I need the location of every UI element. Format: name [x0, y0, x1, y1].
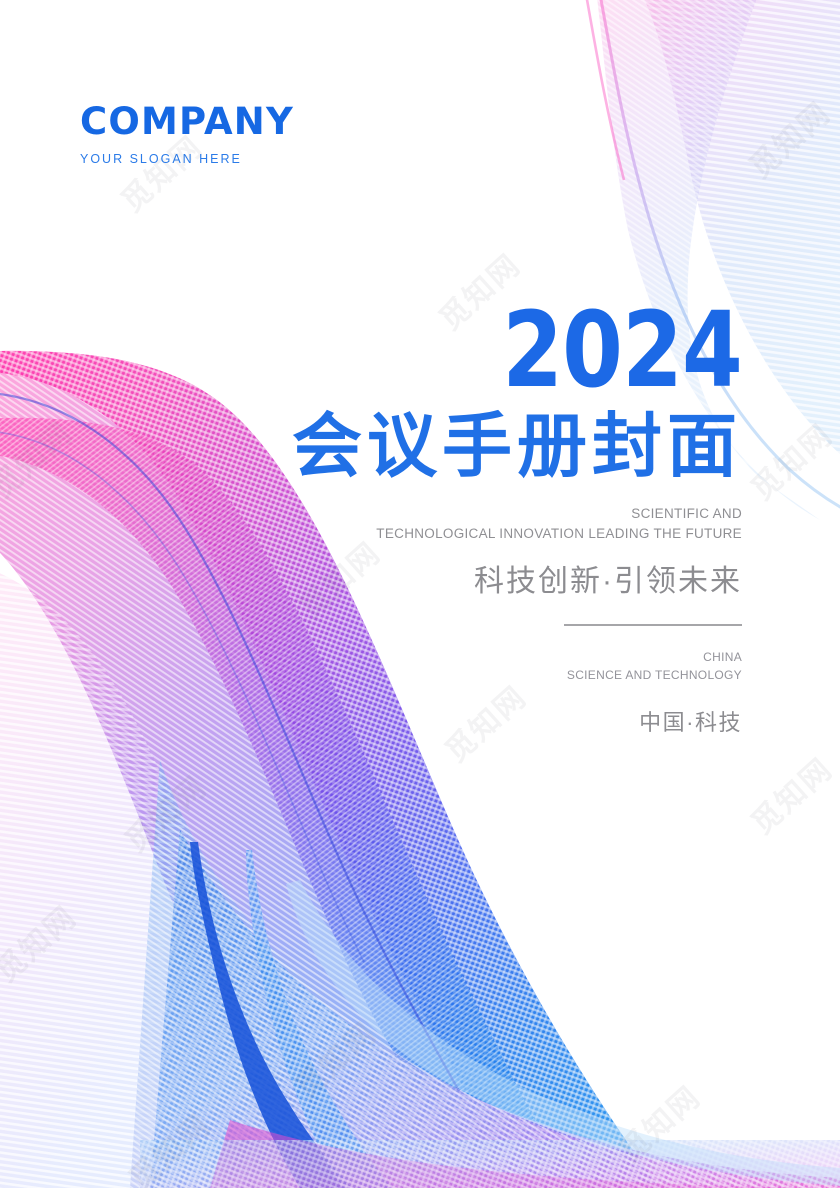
divider-rule [564, 624, 742, 626]
chinese-subtitle: 科技创新·引领未来 [122, 564, 742, 600]
english-location-line2: SCIENCE AND TECHNOLOGY [122, 666, 742, 685]
poster-canvas: 觅知网 觅知网 觅知网 觅知网 觅知网 觅知网 觅知网 觅知网 觅知网 觅知网 … [0, 0, 840, 1188]
watermark: 觅知网 [0, 894, 84, 991]
wave-highlight [286, 880, 840, 1186]
title-block: 2024 会议手册封面 SCIENTIFIC AND TECHNOLOGICAL… [122, 306, 742, 737]
wave-bottom-fan [130, 760, 840, 1188]
chinese-location: 中国·科技 [122, 705, 742, 737]
year-number: 2024 [221, 306, 742, 395]
watermark: 觅知网 [608, 1074, 709, 1171]
watermark: 觅知网 [118, 1102, 219, 1188]
english-subtitle-line1: SCIENTIFIC AND [122, 504, 742, 524]
english-subtitle-line2: TECHNOLOGICAL INNOVATION LEADING THE FUT… [122, 524, 742, 544]
watermark: 觅知网 [740, 746, 840, 843]
page-title: 会议手册封面 [122, 407, 742, 485]
english-location-line1: CHINA [122, 648, 742, 667]
watermark: 觅知网 [0, 410, 80, 507]
english-subtitle: SCIENTIFIC AND TECHNOLOGICAL INNOVATION … [122, 504, 742, 544]
watermark: 觅知网 [284, 1010, 385, 1107]
watermark: 觅知网 [114, 764, 215, 861]
logo-block: COMPANY YOUR SLOGAN HERE [80, 103, 294, 166]
company-slogan: YOUR SLOGAN HERE [80, 152, 294, 166]
company-name: COMPANY [80, 103, 294, 140]
english-location: CHINA SCIENCE AND TECHNOLOGY [122, 648, 742, 685]
watermark: 觅知网 [738, 90, 839, 187]
watermark: 觅知网 [740, 412, 840, 509]
